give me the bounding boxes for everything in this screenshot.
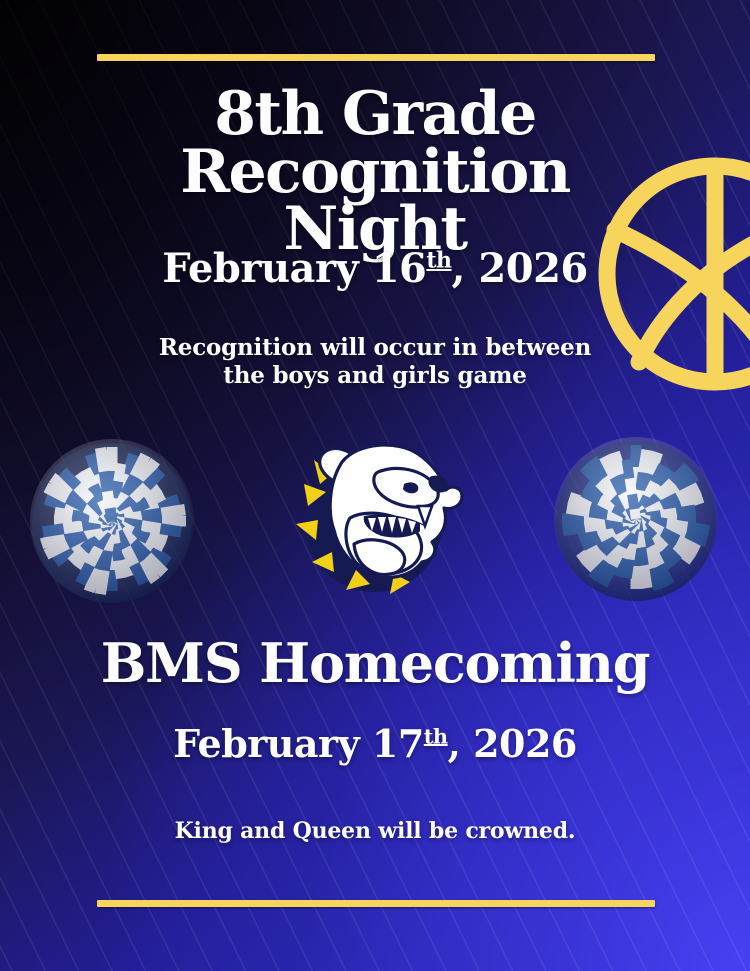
poster-canvas: 8th Grade Recognition Night February 16t…	[0, 0, 750, 971]
homecoming-date: February 17th, 2026	[60, 724, 690, 764]
bulldog-mascot-icon	[292, 432, 472, 606]
headline-line-1: 8th Grade Recognition	[180, 79, 570, 207]
basketball-icon	[597, 156, 750, 392]
homecoming-note: King and Queen will be crowned.	[95, 818, 655, 844]
recognition-date-year: , 2026	[452, 245, 588, 292]
pompom-icon	[26, 435, 198, 607]
recognition-note-line-1: Recognition will occur in between	[159, 334, 591, 361]
homecoming-title: BMS Homecoming	[40, 636, 710, 690]
top-divider-rule	[97, 54, 655, 61]
homecoming-date-ordinal: th	[424, 723, 448, 748]
recognition-date: February 16th, 2026	[60, 248, 690, 290]
recognition-date-ordinal: th	[426, 248, 451, 274]
pompom-icon	[550, 433, 722, 605]
recognition-note: Recognition will occur in between the bo…	[95, 334, 655, 390]
graphics-row	[0, 420, 750, 620]
bottom-divider-rule	[97, 900, 655, 907]
homecoming-date-daymonth: February 17	[173, 721, 424, 766]
homecoming-date-year: , 2026	[448, 721, 577, 766]
recognition-date-daymonth: February 16	[162, 245, 426, 292]
recognition-note-line-2: the boys and girls game	[223, 362, 526, 389]
